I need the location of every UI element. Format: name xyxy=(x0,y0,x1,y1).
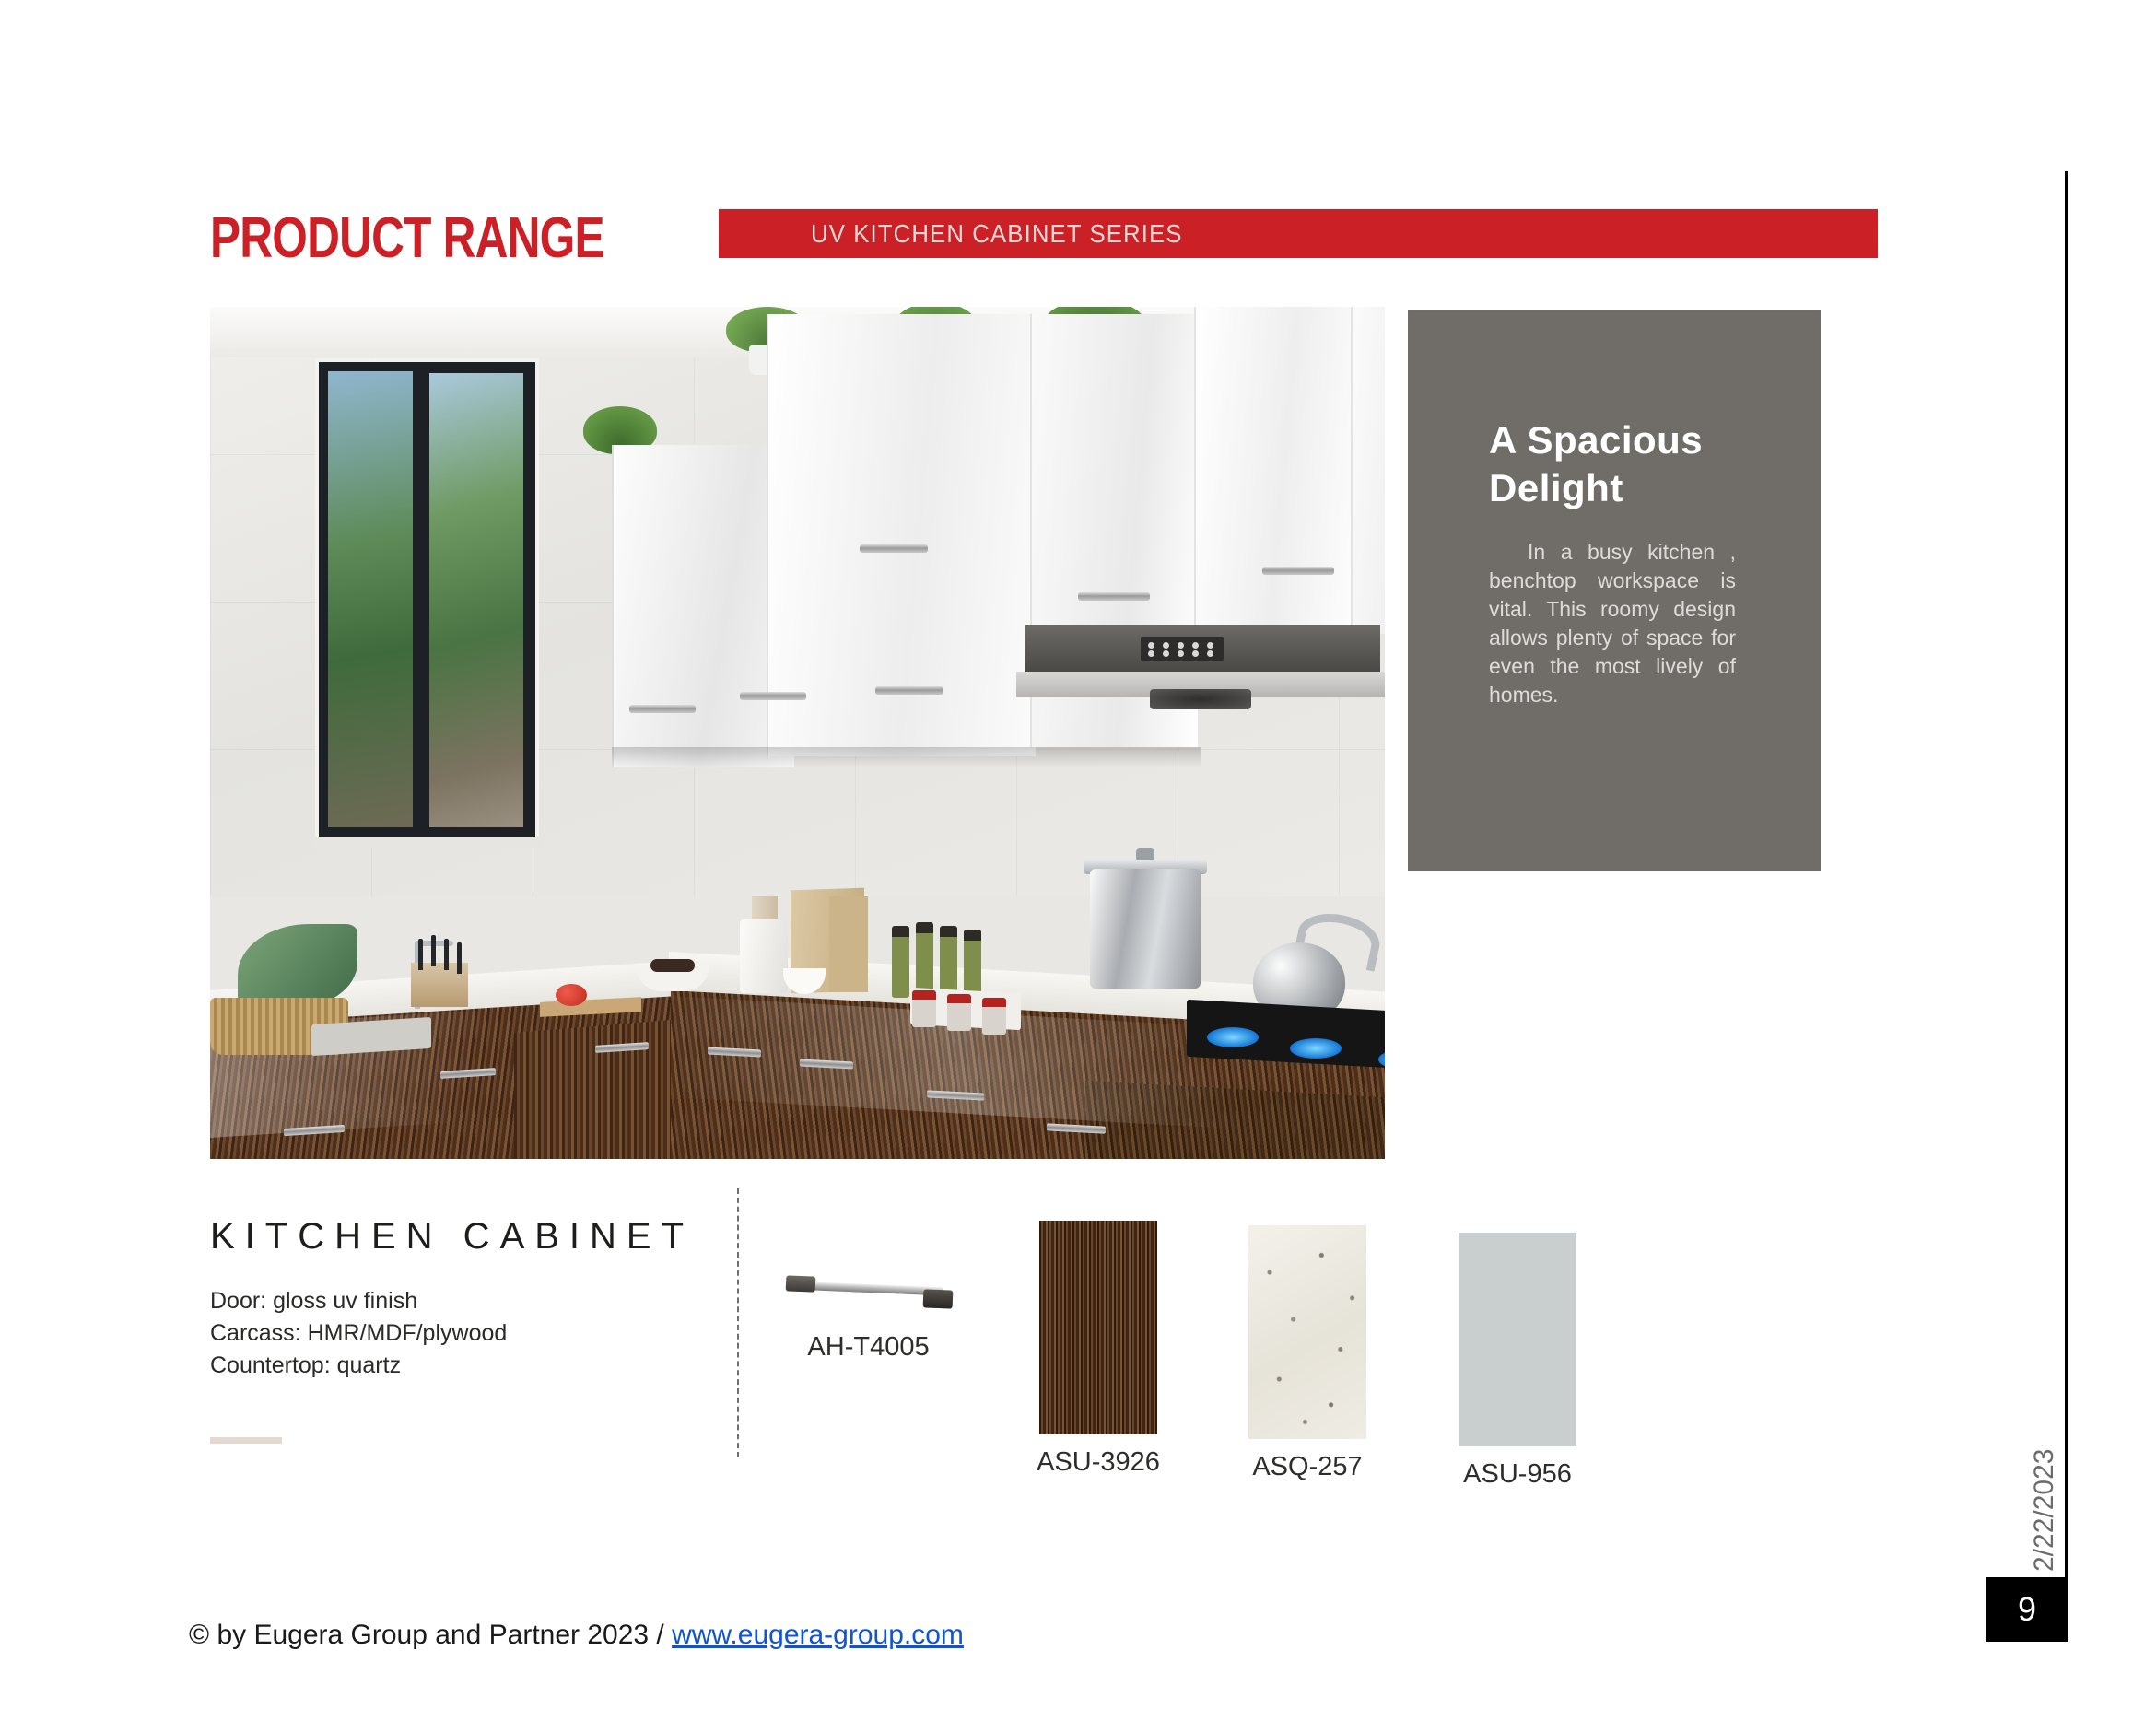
upper-cabinet-right-1 xyxy=(1194,307,1353,638)
swatch-label: ASU-3926 xyxy=(1029,1447,1167,1478)
page-number-box: 9 xyxy=(1986,1577,2068,1642)
handle-label: AH-T4005 xyxy=(783,1332,954,1363)
spec-title: KITCHEN CABINET xyxy=(210,1216,689,1258)
spec-underline-mark xyxy=(210,1437,282,1444)
spec-lines: Door: gloss uv finish Carcass: HMR/MDF/p… xyxy=(210,1285,689,1382)
jar-2 xyxy=(947,994,971,1031)
utensil-canister xyxy=(740,919,788,993)
swatch-sample-quartz xyxy=(1248,1225,1366,1439)
upper-handle-5 xyxy=(1078,592,1150,601)
window-pane-left xyxy=(328,371,413,827)
footer: © by Eugera Group and Partner 2023 / www… xyxy=(189,1620,964,1651)
jar-3 xyxy=(982,998,1006,1035)
gas-flame-2 xyxy=(1290,1038,1342,1059)
material-swatch-item: ASU-956 xyxy=(1459,1233,1587,1490)
right-rule xyxy=(2065,171,2068,1578)
jar-1 xyxy=(912,990,936,1027)
swatch-sample-dark-wood xyxy=(1039,1221,1157,1434)
serving-board-2 xyxy=(829,896,868,992)
oil-bottle-1 xyxy=(892,926,909,998)
cabinet-handle-icon xyxy=(783,1271,954,1312)
oil-bottle-2 xyxy=(916,922,933,998)
oil-bottle-3 xyxy=(940,926,957,998)
material-swatch-item: ASQ-257 xyxy=(1248,1225,1377,1482)
header-banner: UV KITCHEN CABINET SERIES xyxy=(719,209,1878,258)
page-number: 9 xyxy=(1986,1577,2068,1642)
page-title: PRODUCT RANGE xyxy=(210,210,604,267)
swatch-label: ASU-956 xyxy=(1448,1459,1587,1490)
callout-body: In a busy kitchen , benchtop workspace i… xyxy=(1489,538,1736,709)
spec-block: KITCHEN CABINET Door: gloss uv finish Ca… xyxy=(210,1216,689,1382)
handle-end-left xyxy=(786,1275,816,1292)
window-mullion xyxy=(416,362,429,837)
spec-line-countertop: Countertop: quartz xyxy=(210,1350,689,1382)
upper-handle-2 xyxy=(740,692,806,700)
upper-cabinet-shadow xyxy=(612,747,1201,767)
swatch-label: ASQ-257 xyxy=(1238,1452,1377,1482)
upper-handle-1 xyxy=(629,705,696,713)
range-hood-filter xyxy=(1150,689,1251,709)
vertical-dashed-divider xyxy=(737,1188,739,1457)
upper-handle-4 xyxy=(875,686,943,695)
stockpot xyxy=(1090,869,1201,989)
gas-flame-1 xyxy=(1207,1027,1259,1047)
knife-block xyxy=(411,963,468,1007)
footer-copyright: © by Eugera Group and Partner 2023 / xyxy=(189,1620,672,1650)
handle-bar xyxy=(796,1281,943,1296)
handle-end-right xyxy=(923,1289,954,1308)
spec-line-carcass: Carcass: HMR/MDF/plywood xyxy=(210,1317,689,1350)
callout-heading: A Spacious Delight xyxy=(1489,416,1765,512)
spec-line-door: Door: gloss uv finish xyxy=(210,1285,689,1317)
page-header: PRODUCT RANGE UV KITCHEN CABINET SERIES xyxy=(210,205,1878,284)
footer-website-link[interactable]: www.eugera-group.com xyxy=(672,1620,964,1650)
oil-bottle-4 xyxy=(964,930,981,998)
range-hood-control-panel xyxy=(1141,637,1224,661)
kitchen-hero-photo xyxy=(210,307,1385,1159)
date-stamp-text: 2/22/2023 xyxy=(2029,1449,2060,1572)
header-banner-label: UV KITCHEN CABINET SERIES xyxy=(811,209,1183,258)
swatch-sample-light-grey xyxy=(1459,1233,1576,1446)
upper-cabinet-right-2 xyxy=(1351,307,1385,634)
bowl-contents xyxy=(650,959,695,972)
upper-handle-6 xyxy=(1262,567,1334,575)
date-stamp: 2/22/2023 xyxy=(1990,1410,2045,1575)
handle-swatch-item: AH-T4005 xyxy=(783,1271,986,1363)
upper-handle-3 xyxy=(860,544,928,553)
window-pane-right xyxy=(429,373,523,827)
material-swatch-item: ASU-3926 xyxy=(1039,1221,1167,1478)
callout-panel: A Spacious Delight In a busy kitchen , b… xyxy=(1408,310,1821,871)
tomato xyxy=(556,984,587,1006)
window-sill xyxy=(313,837,544,848)
